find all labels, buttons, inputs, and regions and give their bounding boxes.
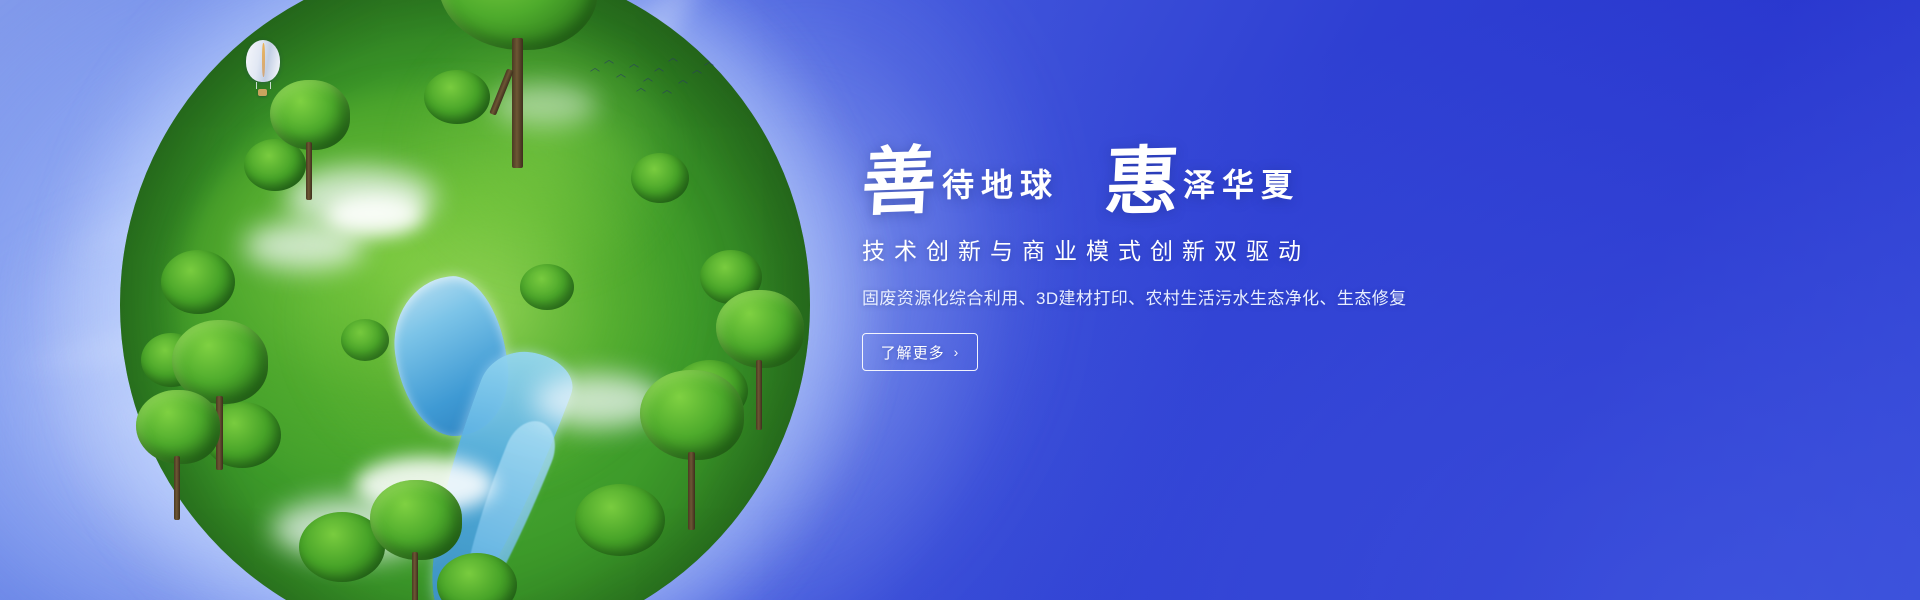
headline-char-2: 惠: [1103, 147, 1185, 216]
hot-air-balloon-icon: [243, 40, 283, 100]
tree: [136, 390, 220, 520]
banner-copy: 善 待地球 惠 泽华夏 技术创新与商业模式创新双驱动 固废资源化综合利用、3D建…: [862, 120, 1842, 371]
headline-char-1: 善: [860, 147, 944, 218]
headline: 善 待地球 惠 泽华夏: [862, 120, 1842, 216]
bird-flock: ︿ ︿ ︿ ︿ ︿ ︿ ︿ ︿ ︿ ︿ ︿ ︿: [588, 50, 718, 96]
tree: [716, 290, 804, 430]
hero-tree: [438, 0, 598, 168]
hero-banner: ︿ ︿ ︿ ︿ ︿ ︿ ︿ ︿ ︿ ︿ ︿ ︿ 善 待地球 惠 泽华夏 技术创新…: [0, 0, 1920, 600]
bush: [520, 264, 574, 310]
bush: [161, 250, 235, 314]
learn-more-button[interactable]: 了解更多 ›: [862, 333, 978, 371]
learn-more-label: 了解更多: [881, 342, 945, 363]
tree: [370, 480, 462, 600]
banner-description: 固废资源化综合利用、3D建材打印、农村生活污水生态净化、生态修复: [862, 284, 1842, 309]
chevron-right-icon: ›: [954, 344, 960, 360]
banner-subtitle: 技术创新与商业模式创新双驱动: [862, 232, 1842, 266]
headline-rest-2: 泽华夏: [1183, 160, 1300, 216]
bush: [631, 153, 689, 203]
bush: [341, 319, 389, 361]
headline-rest-1: 待地球: [942, 160, 1059, 216]
